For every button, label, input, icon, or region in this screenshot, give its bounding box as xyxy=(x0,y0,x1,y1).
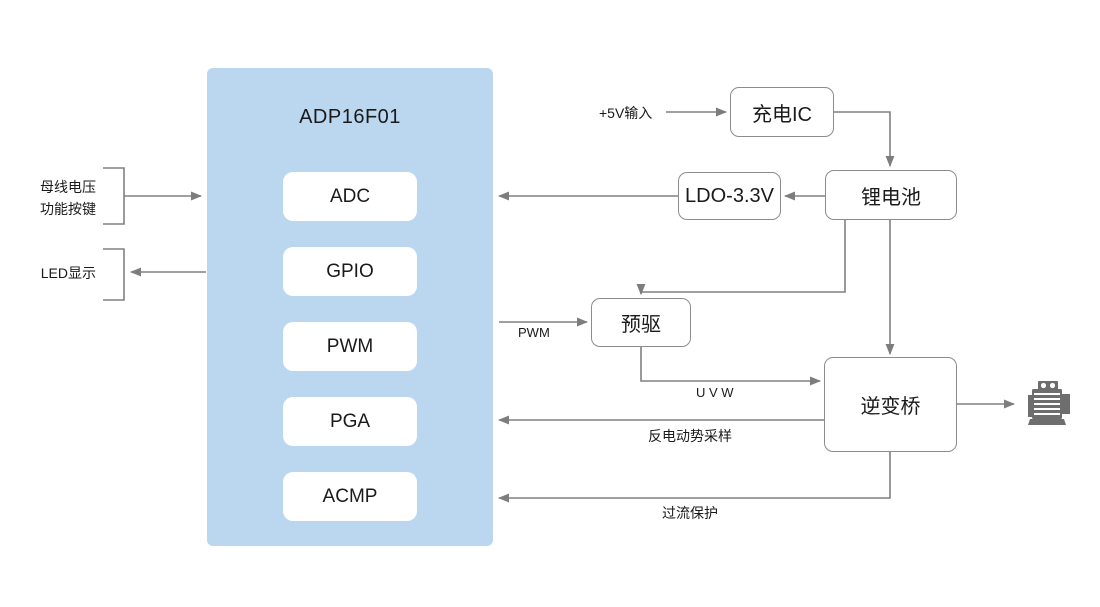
motor-icon xyxy=(1022,381,1078,427)
left-bracket-top xyxy=(103,168,124,224)
connector-layer xyxy=(0,0,1100,607)
block-ldo-label: LDO-3.3V xyxy=(685,185,774,208)
left-label-bus-voltage-group: 母线电压 功能按键 xyxy=(0,176,96,220)
edge-label-back-emf: 反电动势采样 xyxy=(648,426,732,446)
block-inverter-label: 逆变桥 xyxy=(861,390,921,419)
mcu-title: ADP16F01 xyxy=(207,106,493,129)
block-ldo[interactable]: LDO-3.3V xyxy=(678,172,781,220)
mcu-block-label: PGA xyxy=(330,411,370,433)
mcu-block-pga[interactable]: PGA xyxy=(283,397,417,446)
mcu-block-label: GPIO xyxy=(326,261,374,283)
left-label-led-display: LED显示 xyxy=(0,262,96,284)
mcu-block-gpio[interactable]: GPIO xyxy=(283,247,417,296)
mcu-block-adc[interactable]: ADC xyxy=(283,172,417,221)
arrow-chargeic-to-battery xyxy=(834,112,890,166)
edge-label-uvw: U V W xyxy=(696,385,734,400)
edge-label-over-current: 过流保护 xyxy=(662,503,718,523)
block-pre-driver-label: 预驱 xyxy=(621,308,661,337)
arrow-predriver-to-inverter xyxy=(641,347,820,381)
left-label-bus-voltage: 母线电压 xyxy=(0,176,96,198)
mcu-block-acmp[interactable]: ACMP xyxy=(283,472,417,521)
mcu-block-label: ACMP xyxy=(323,486,378,508)
block-battery[interactable]: 锂电池 xyxy=(825,170,957,220)
mcu-block-label: PWM xyxy=(327,336,373,358)
edge-label-5v-input: +5V输入 xyxy=(599,103,652,123)
arrow-inverter-to-acmp xyxy=(499,452,890,498)
block-inverter[interactable]: 逆变桥 xyxy=(824,357,957,452)
block-pre-driver[interactable]: 预驱 xyxy=(591,298,691,347)
edge-label-pwm: PWM xyxy=(518,325,550,340)
block-charge-ic[interactable]: 充电IC xyxy=(730,87,834,137)
block-diagram-canvas: ADP16F01 ADC GPIO PWM PGA ACMP 母线电压 功能按键… xyxy=(0,0,1100,607)
arrow-battery-to-predriver xyxy=(641,220,845,294)
left-bracket-bottom xyxy=(103,249,124,300)
mcu-block-label: ADC xyxy=(330,186,370,208)
block-charge-ic-label: 充电IC xyxy=(752,98,812,127)
mcu-block-pwm[interactable]: PWM xyxy=(283,322,417,371)
left-label-function-keys: 功能按键 xyxy=(0,198,96,220)
block-battery-label: 锂电池 xyxy=(861,181,921,210)
